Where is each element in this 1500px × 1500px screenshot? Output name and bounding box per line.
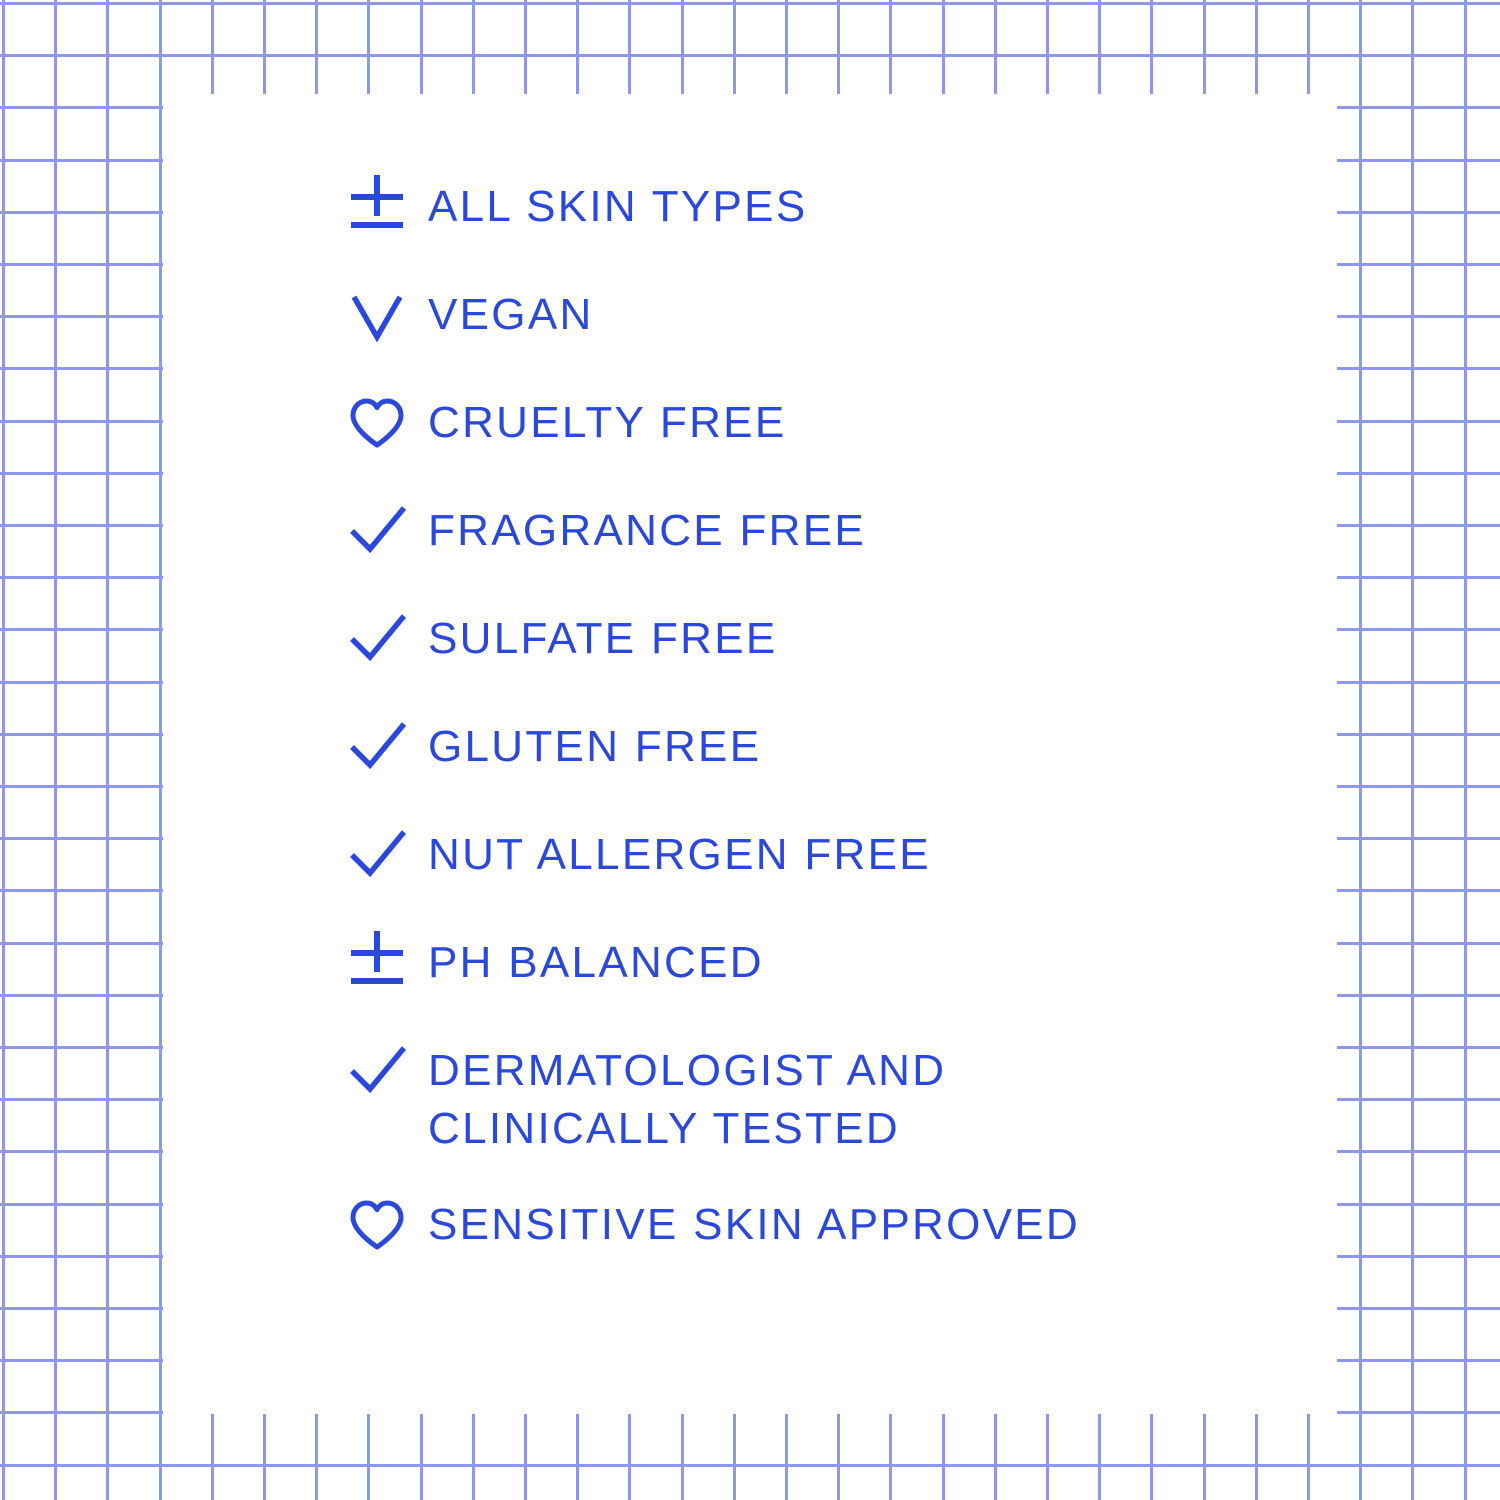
checkmark-icon xyxy=(348,719,406,777)
heart-outline-icon-wrap xyxy=(330,1194,428,1258)
claim-row: CRUELTY FREE xyxy=(330,392,1310,456)
checkmark-icon xyxy=(348,1043,406,1101)
checkmark-icon-wrap xyxy=(330,1040,428,1104)
checkmark-icon xyxy=(348,503,406,561)
claim-row: ALL SKIN TYPES xyxy=(330,176,1310,240)
claim-row: FRAGRANCE FREE xyxy=(330,500,1310,564)
grid-line-vertical xyxy=(1411,0,1414,1500)
v-vegan-icon xyxy=(348,287,406,345)
checkmark-icon xyxy=(348,827,406,885)
claim-label: CRUELTY FREE xyxy=(428,392,1310,452)
claim-row: GLUTEN FREE xyxy=(330,716,1310,780)
v-vegan-icon-wrap xyxy=(330,284,428,348)
grid-line-vertical xyxy=(159,0,162,1500)
claim-row: NUT ALLERGEN FREE xyxy=(330,824,1310,888)
heart-outline-icon-wrap xyxy=(330,392,428,456)
grid-line-vertical xyxy=(1464,0,1467,1500)
checkmark-icon-wrap xyxy=(330,500,428,564)
plus-minus-icon-wrap xyxy=(330,932,428,996)
plus-minus-icon xyxy=(348,179,406,237)
claim-label: ALL SKIN TYPES xyxy=(428,176,1310,236)
claim-row: SULFATE FREE xyxy=(330,608,1310,672)
checkmark-icon-wrap xyxy=(330,608,428,672)
claim-label: VEGAN xyxy=(428,284,1310,344)
claims-infographic: ALL SKIN TYPESVEGANCRUELTY FREEFRAGRANCE… xyxy=(0,0,1500,1500)
checkmark-icon xyxy=(348,611,406,669)
claim-row: DERMATOLOGIST AND CLINICALLY TESTED xyxy=(330,1040,1310,1158)
claim-row: SENSITIVE SKIN APPROVED xyxy=(330,1194,1310,1258)
claim-label: SULFATE FREE xyxy=(428,608,1310,668)
claim-row: PH BALANCED xyxy=(330,932,1310,996)
claim-label: NUT ALLERGEN FREE xyxy=(428,824,1310,884)
grid-line-horizontal xyxy=(0,2,1500,5)
checkmark-icon-wrap xyxy=(330,716,428,780)
grid-line-horizontal xyxy=(0,54,1500,57)
grid-line-horizontal xyxy=(0,1464,1500,1467)
heart-outline-icon xyxy=(348,1197,406,1255)
claim-label: PH BALANCED xyxy=(428,932,1310,992)
grid-line-vertical xyxy=(106,0,109,1500)
plus-minus-icon xyxy=(348,935,406,993)
claim-label: SENSITIVE SKIN APPROVED xyxy=(428,1194,1310,1254)
claim-label: FRAGRANCE FREE xyxy=(428,500,1310,560)
claim-label: DERMATOLOGIST AND CLINICALLY TESTED xyxy=(428,1040,1310,1158)
checkmark-icon-wrap xyxy=(330,824,428,888)
plus-minus-icon-wrap xyxy=(330,176,428,240)
claim-label: GLUTEN FREE xyxy=(428,716,1310,776)
heart-outline-icon xyxy=(348,395,406,453)
grid-line-vertical xyxy=(2,0,5,1500)
grid-line-vertical xyxy=(1359,0,1362,1500)
claims-list: ALL SKIN TYPESVEGANCRUELTY FREEFRAGRANCE… xyxy=(330,176,1310,1302)
claim-row: VEGAN xyxy=(330,284,1310,348)
grid-line-vertical xyxy=(54,0,57,1500)
